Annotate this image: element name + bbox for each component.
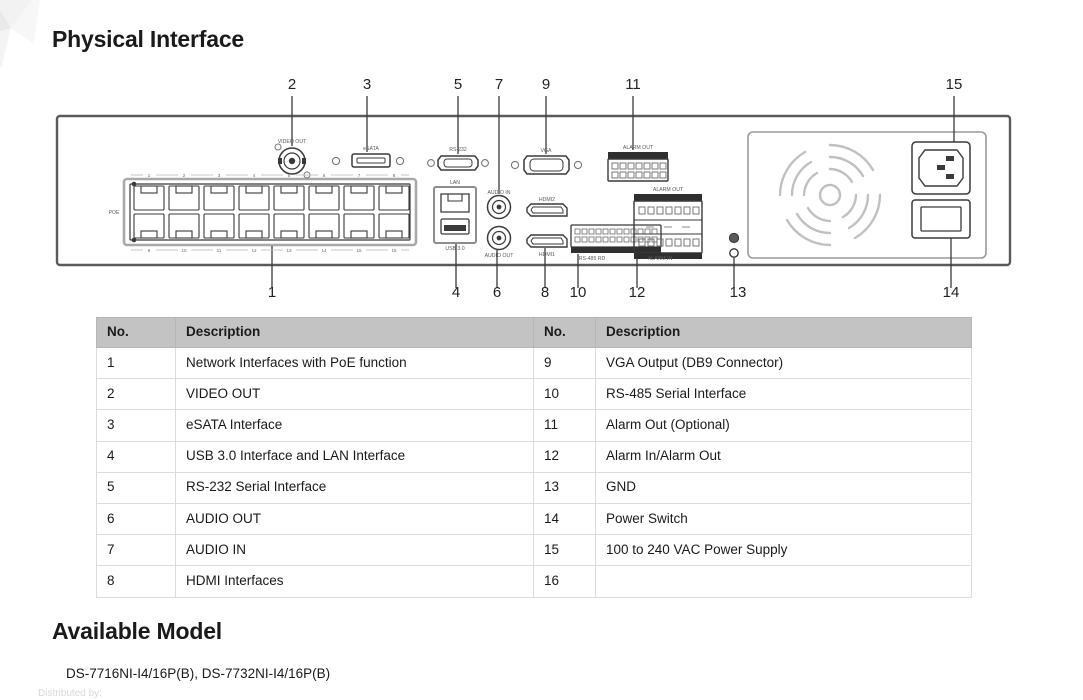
svg-text:1: 1 (148, 173, 151, 178)
cell-no-right: 14 (534, 503, 596, 534)
cell-desc-left: AUDIO OUT (176, 503, 534, 534)
cell-desc-left: Network Interfaces with PoE function (176, 348, 534, 379)
callout-bottom-8: 8 (532, 284, 558, 301)
table-row: 2 VIDEO OUT 10 RS-485 Serial Interface (97, 379, 972, 410)
callout-top-5: 5 (445, 76, 471, 93)
table-row: 4 USB 3.0 Interface and LAN Interface 12… (97, 441, 972, 472)
svg-text:9: 9 (148, 248, 151, 253)
label-lan: LAN (450, 180, 460, 186)
header-no-left: No. (97, 318, 176, 348)
rear-panel-svg: VIDEO OUT eSATA RS-232 VGA ALARM OUT ALA… (0, 60, 1083, 310)
label-rs232: RS-232 (449, 147, 467, 153)
svg-text:6: 6 (323, 173, 326, 178)
header-no-right: No. (534, 318, 596, 348)
svg-text:14: 14 (321, 248, 327, 253)
label-audio-out: AUDIO OUT (485, 253, 515, 259)
cell-no-left: 8 (97, 566, 176, 597)
table-row: 3 eSATA Interface 11 Alarm Out (Optional… (97, 410, 972, 441)
label-alarm-in-block: ALARM IN (648, 256, 673, 262)
svg-text:12: 12 (251, 248, 257, 253)
svg-text:10: 10 (181, 248, 187, 253)
rear-panel-diagram: VIDEO OUT eSATA RS-232 VGA ALARM OUT ALA… (0, 60, 1083, 310)
cell-desc-left: AUDIO IN (176, 535, 534, 566)
label-hdmi2: HDMI2 (539, 197, 555, 203)
cell-desc-right (596, 566, 972, 597)
cell-desc-left: VIDEO OUT (176, 379, 534, 410)
svg-text:7: 7 (358, 173, 361, 178)
callout-top-15: 15 (941, 76, 967, 93)
available-model-title: Available Model (52, 618, 222, 645)
cell-desc-right: RS-485 Serial Interface (596, 379, 972, 410)
cell-no-right: 9 (534, 348, 596, 379)
cell-no-right: 15 (534, 535, 596, 566)
label-vga: VGA (541, 148, 552, 154)
svg-text:2: 2 (183, 173, 186, 178)
cell-no-right: 12 (534, 441, 596, 472)
svg-text:11: 11 (217, 248, 222, 253)
svg-text:15: 15 (356, 248, 362, 253)
distributed-by-note: Distributed by: (38, 688, 102, 699)
svg-text:3: 3 (218, 173, 221, 178)
label-usb: USB 3.0 (445, 246, 464, 252)
cell-no-left: 7 (97, 535, 176, 566)
svg-text:8: 8 (393, 173, 396, 178)
power-supply-module (748, 132, 986, 258)
callout-bottom-10: 10 (565, 284, 591, 301)
label-alarm-out-block: ALARM OUT (653, 187, 684, 193)
page-root: Physical Interface (0, 0, 1083, 700)
cell-desc-right: Power Switch (596, 503, 972, 534)
cell-no-left: 2 (97, 379, 176, 410)
table-row: 6 AUDIO OUT 14 Power Switch (97, 503, 972, 534)
svg-text:13: 13 (286, 248, 292, 253)
svg-text:16: 16 (391, 248, 397, 253)
label-rs485: RS-485 RD (579, 256, 606, 262)
label-hdmi1: HDMI1 (539, 252, 555, 258)
label-video-out: VIDEO OUT (278, 139, 307, 145)
cell-no-left: 1 (97, 348, 176, 379)
svg-text:4: 4 (253, 173, 256, 178)
cell-no-right: 16 (534, 566, 596, 597)
cell-no-left: 5 (97, 472, 176, 503)
label-alarm-out-top: ALARM OUT (623, 145, 654, 151)
cell-desc-left: eSATA Interface (176, 410, 534, 441)
callout-bottom-12: 12 (624, 284, 650, 301)
cell-desc-right: Alarm In/Alarm Out (596, 441, 972, 472)
svg-text:5: 5 (288, 173, 291, 178)
table-row: 1 Network Interfaces with PoE function 9… (97, 348, 972, 379)
poe-port-bank (124, 179, 416, 245)
cell-desc-left: USB 3.0 Interface and LAN Interface (176, 441, 534, 472)
label-audio-in: AUDIO IN (487, 190, 510, 196)
cell-desc-left: RS-232 Serial Interface (176, 472, 534, 503)
cell-desc-right: VGA Output (DB9 Connector) (596, 348, 972, 379)
table-row: 7 AUDIO IN 15 100 to 240 VAC Power Suppl… (97, 535, 972, 566)
cell-no-left: 3 (97, 410, 176, 441)
cell-desc-right: 100 to 240 VAC Power Supply (596, 535, 972, 566)
cell-no-right: 13 (534, 472, 596, 503)
callout-top-3: 3 (354, 76, 380, 93)
table-row: 5 RS-232 Serial Interface 13 GND (97, 472, 972, 503)
cell-no-left: 6 (97, 503, 176, 534)
available-model-list: DS-7716NI-I4/16P(B), DS-7732NI-I4/16P(B) (66, 666, 330, 681)
callout-bottom-6: 6 (484, 284, 510, 301)
callout-bottom-13: 13 (725, 284, 751, 301)
cell-desc-right: GND (596, 472, 972, 503)
cell-no-right: 11 (534, 410, 596, 441)
cell-no-right: 10 (534, 379, 596, 410)
callout-top-7: 7 (486, 76, 512, 93)
page-title: Physical Interface (52, 26, 244, 53)
callout-bottom-1: 1 (259, 284, 285, 301)
cell-no-left: 4 (97, 441, 176, 472)
callout-top-2: 2 (279, 76, 305, 93)
header-desc-right: Description (596, 318, 972, 348)
interface-description-table: No. Description No. Description 1 Networ… (96, 317, 972, 598)
cell-desc-left: HDMI Interfaces (176, 566, 534, 597)
callout-top-11: 11 (620, 76, 646, 93)
label-poe: POE (109, 210, 120, 216)
header-desc-left: Description (176, 318, 534, 348)
cell-desc-right: Alarm Out (Optional) (596, 410, 972, 441)
callout-bottom-14: 14 (938, 284, 964, 301)
callout-top-9: 9 (533, 76, 559, 93)
callout-bottom-4: 4 (443, 284, 469, 301)
label-esata: eSATA (363, 146, 379, 152)
table-row: 8 HDMI Interfaces 16 (97, 566, 972, 597)
table-header-row: No. Description No. Description (97, 318, 972, 348)
